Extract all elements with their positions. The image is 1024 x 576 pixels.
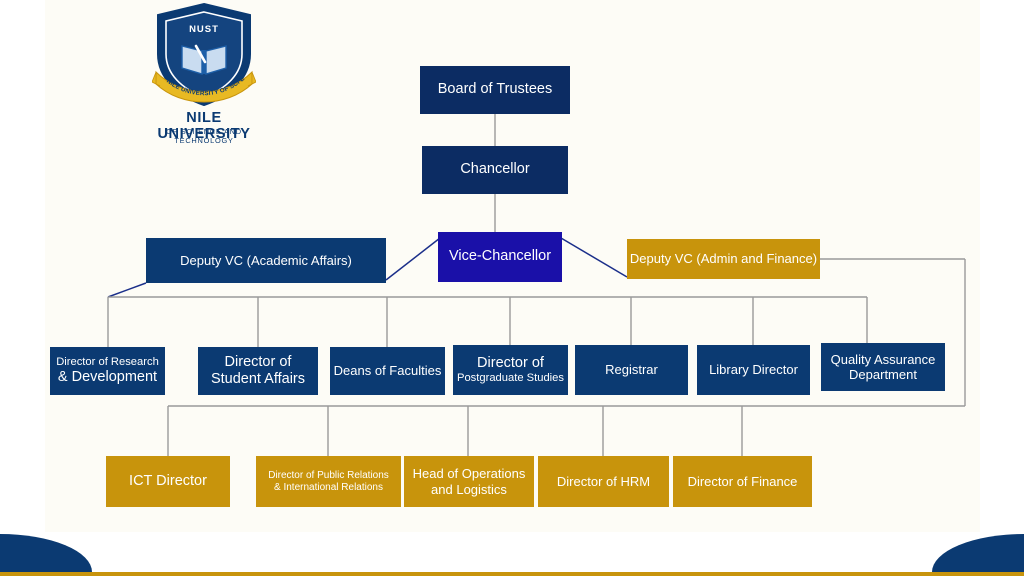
node-label: Board of Trustees <box>438 81 552 98</box>
node-board-of-trustees[interactable]: Board of Trustees <box>420 66 570 114</box>
node-vice-chancellor[interactable]: Vice-Chancellor <box>438 232 562 282</box>
node-label-line1: Director of Public Relations <box>268 470 389 482</box>
node-label-line2: & Development <box>58 369 157 386</box>
slide-canvas: NUST NILE UNIVERSITY OF SCI ENCE AND TEC… <box>0 0 1024 576</box>
footer-shape-right <box>932 534 1024 572</box>
node-label-line1: Head of Operations <box>413 466 526 481</box>
node-director-hrm[interactable]: Director of HRM <box>538 456 669 507</box>
node-director-finance[interactable]: Director of Finance <box>673 456 812 507</box>
node-label: ICT Director <box>129 473 207 490</box>
node-chancellor[interactable]: Chancellor <box>422 146 568 194</box>
node-label-line1: Director of Research <box>56 356 159 369</box>
node-label-line2: Department <box>849 367 917 382</box>
node-label-line2: & International Relations <box>274 482 383 494</box>
node-label: Library Director <box>709 362 798 377</box>
logo-subtitle: OF SCI ENCE AND TECHNOLOGY <box>138 127 270 145</box>
node-director-public-relations[interactable]: Director of Public Relations & Internati… <box>256 456 401 507</box>
footer-shape-left <box>0 534 92 572</box>
footer-accent-bar <box>0 572 1024 576</box>
node-label-line2: Student Affairs <box>211 371 305 388</box>
node-deputy-vc-admin[interactable]: Deputy VC (Admin and Finance) <box>627 239 820 279</box>
node-label: Vice-Chancellor <box>449 248 551 265</box>
node-label-line1: Director of <box>477 355 544 372</box>
node-label: Registrar <box>605 362 658 377</box>
node-head-operations[interactable]: Head of Operations and Logistics <box>404 456 534 507</box>
node-director-student-affairs[interactable]: Director of Student Affairs <box>198 347 318 395</box>
university-logo: NUST NILE UNIVERSITY OF SCI ENCE AND TEC… <box>138 2 270 142</box>
node-registrar[interactable]: Registrar <box>575 345 688 395</box>
node-label: Deputy VC (Academic Affairs) <box>180 253 352 268</box>
svg-text:NUST: NUST <box>189 24 219 35</box>
node-label: Deans of Faculties <box>334 363 442 378</box>
node-label-line2: Postgraduate Studies <box>457 372 564 385</box>
node-quality-assurance[interactable]: Quality Assurance Department <box>821 343 945 391</box>
node-label-line2: and Logistics <box>431 482 507 497</box>
node-label: Chancellor <box>460 161 529 178</box>
node-label: Director of Finance <box>688 474 798 489</box>
node-director-postgraduate[interactable]: Director of Postgraduate Studies <box>453 345 568 395</box>
node-deans-of-faculties[interactable]: Deans of Faculties <box>330 347 445 395</box>
node-director-research[interactable]: Director of Research & Development <box>50 347 165 395</box>
shield-book-icon: NUST NILE UNIVERSITY OF SCI ENCE AND TEC… <box>152 2 256 108</box>
node-label: Director of HRM <box>557 474 650 489</box>
node-ict-director[interactable]: ICT Director <box>106 456 230 507</box>
node-label-line1: Quality Assurance <box>831 352 936 367</box>
node-library-director[interactable]: Library Director <box>697 345 810 395</box>
node-label-line1: Director of <box>225 354 292 371</box>
node-deputy-vc-academic[interactable]: Deputy VC (Academic Affairs) <box>146 238 386 283</box>
node-label: Deputy VC (Admin and Finance) <box>630 251 817 266</box>
